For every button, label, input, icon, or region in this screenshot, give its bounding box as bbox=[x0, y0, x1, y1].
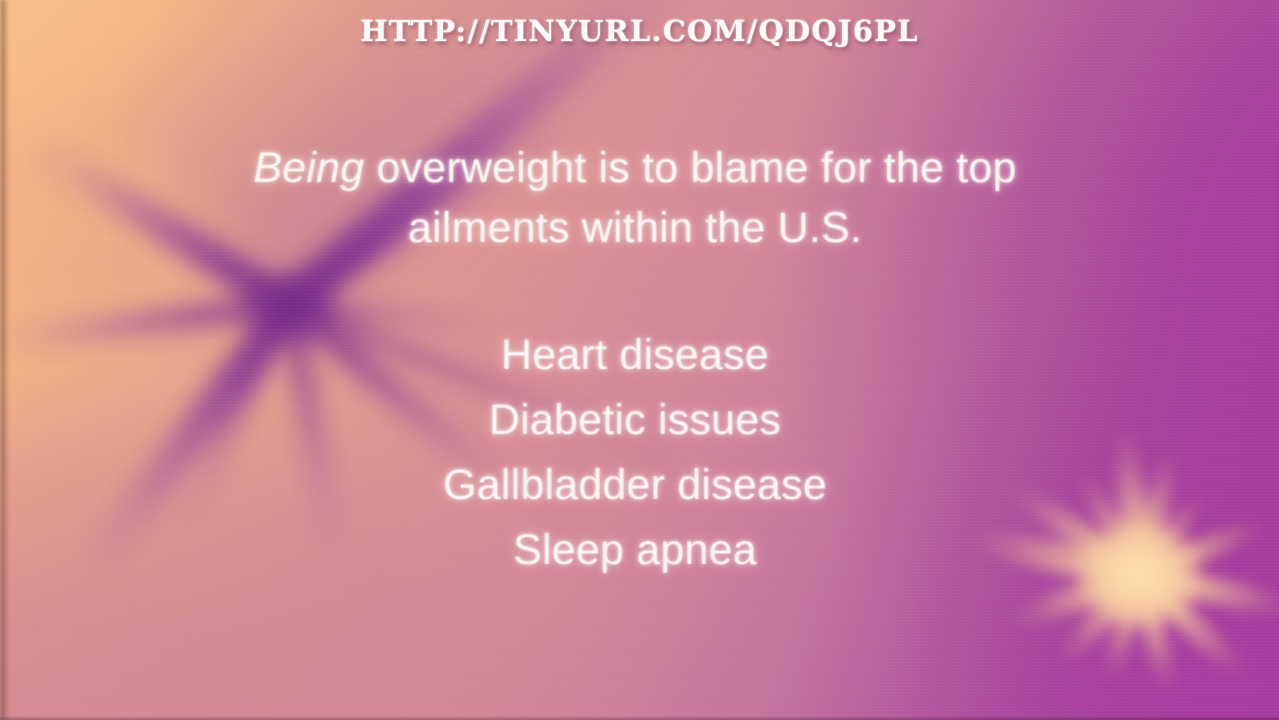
bottom-edge-shadow bbox=[0, 716, 1279, 720]
ailment-item: Heart disease bbox=[180, 323, 1090, 388]
headline-text: Being overweight is to blame for the top… bbox=[180, 138, 1090, 258]
ailment-item: Diabetic issues bbox=[180, 388, 1090, 453]
slide-canvas: HTTP://TINYURL.COM/QDQJ6PL Being overwei… bbox=[0, 0, 1279, 720]
headline-lead-word: Being bbox=[253, 144, 364, 192]
ailment-item: Gallbladder disease bbox=[180, 453, 1090, 518]
tinyurl-banner: HTTP://TINYURL.COM/QDQJ6PL bbox=[0, 14, 1279, 48]
ailment-item: Sleep apnea bbox=[180, 518, 1090, 583]
left-edge-streak bbox=[0, 0, 10, 720]
feather-core bbox=[1078, 523, 1202, 627]
ailments-list: Heart disease Diabetic issues Gallbladde… bbox=[180, 323, 1090, 583]
headline-rest: overweight is to blame for the top ailme… bbox=[364, 144, 1016, 252]
